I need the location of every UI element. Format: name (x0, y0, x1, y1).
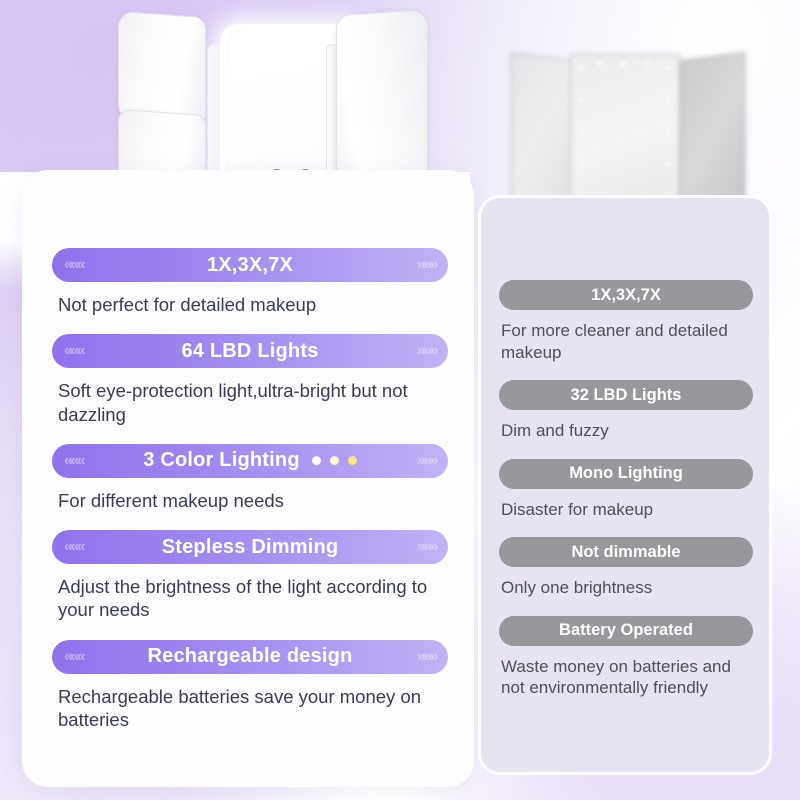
color-dot-yellow (348, 456, 357, 465)
badge-led-count[interactable]: 32 LBD Lights (499, 380, 753, 410)
feature-description: Waste money on batteries and not environ… (501, 656, 753, 699)
chevron-right-icon: »»» (417, 343, 436, 359)
badge-label: Stepless Dimming (162, 536, 339, 559)
feature-description: Rechargeable batteries save your money o… (58, 685, 448, 732)
badge-label: Mono Lighting (569, 464, 683, 483)
chevron-left-icon: ««« (64, 343, 83, 359)
badge-label: 3 Color Lighting (143, 449, 300, 472)
color-temperature-dots (312, 456, 357, 465)
chevron-right-icon: »»» (417, 539, 436, 555)
feature-row-power: Battery Operated Waste money on batterie… (499, 616, 753, 699)
feature-description: Adjust the brightness of the light accor… (58, 575, 448, 622)
comparison-card-basic: 1X,3X,7X For more cleaner and detailed m… (478, 195, 772, 775)
chevron-left-icon: ««« (64, 539, 83, 555)
badge-magnification[interactable]: ««« 1X,3X,7X »»» (52, 248, 448, 282)
feature-description: For different makeup needs (58, 489, 448, 512)
feature-row-color-lighting: ««« 3 Color Lighting »»» For different m… (52, 444, 448, 512)
chevron-right-icon: »»» (417, 257, 436, 273)
feature-description: Disaster for makeup (501, 499, 753, 521)
badge-color-lighting[interactable]: ««« 3 Color Lighting »»» (52, 444, 448, 478)
chevron-right-icon: »»» (417, 649, 436, 665)
badge-dimming[interactable]: Not dimmable (499, 537, 753, 567)
chevron-right-icon: »»» (417, 453, 436, 469)
feature-row-magnification: 1X,3X,7X For more cleaner and detailed m… (499, 280, 753, 363)
chevron-left-icon: ««« (64, 453, 83, 469)
feature-row-dimming: Not dimmable Only one brightness (499, 537, 753, 599)
infographic-canvas: ««« 1X,3X,7X »»» Not perfect for detaile… (0, 0, 800, 800)
mirror-left-wing-upper (118, 11, 206, 125)
color-dot-cream (330, 456, 339, 465)
feature-description: For more cleaner and detailed makeup (501, 320, 753, 363)
badge-label: 32 LBD Lights (571, 386, 682, 405)
color-dot-white (312, 456, 321, 465)
feature-row-color-lighting: Mono Lighting Disaster for makeup (499, 459, 753, 521)
badge-power[interactable]: ««« Rechargeable design »»» (52, 640, 448, 674)
badge-label: Not dimmable (571, 543, 680, 562)
feature-description: Soft eye-protection light,ultra-bright b… (58, 379, 448, 426)
badge-label: Rechargeable design (148, 645, 353, 668)
badge-label: 1X,3X,7X (591, 286, 661, 305)
feature-row-led-count: 32 LBD Lights Dim and fuzzy (499, 380, 753, 442)
feature-description: Dim and fuzzy (501, 420, 753, 442)
badge-magnification[interactable]: 1X,3X,7X (499, 280, 753, 310)
feature-row-magnification: ««« 1X,3X,7X »»» Not perfect for detaile… (52, 248, 448, 316)
badge-dimming[interactable]: ««« Stepless Dimming »»» (52, 530, 448, 564)
feature-description: Not perfect for detailed makeup (58, 293, 448, 316)
feature-row-power: ««« Rechargeable design »»» Rechargeable… (52, 640, 448, 732)
feature-description: Only one brightness (501, 577, 753, 599)
chevron-left-icon: ««« (64, 649, 83, 665)
comparison-card-premium: ««« 1X,3X,7X »»» Not perfect for detaile… (22, 170, 474, 787)
badge-label: 64 LBD Lights (181, 340, 318, 363)
badge-power[interactable]: Battery Operated (499, 616, 753, 646)
feature-row-led-count: ««« 64 LBD Lights »»» Soft eye-protectio… (52, 334, 448, 426)
chevron-left-icon: ««« (64, 257, 83, 273)
badge-led-count[interactable]: ««« 64 LBD Lights »»» (52, 334, 448, 368)
badge-label: Battery Operated (559, 621, 693, 640)
badge-color-lighting[interactable]: Mono Lighting (499, 459, 753, 489)
feature-row-dimming: ««« Stepless Dimming »»» Adjust the brig… (52, 530, 448, 622)
badge-label: 1X,3X,7X (207, 254, 293, 277)
